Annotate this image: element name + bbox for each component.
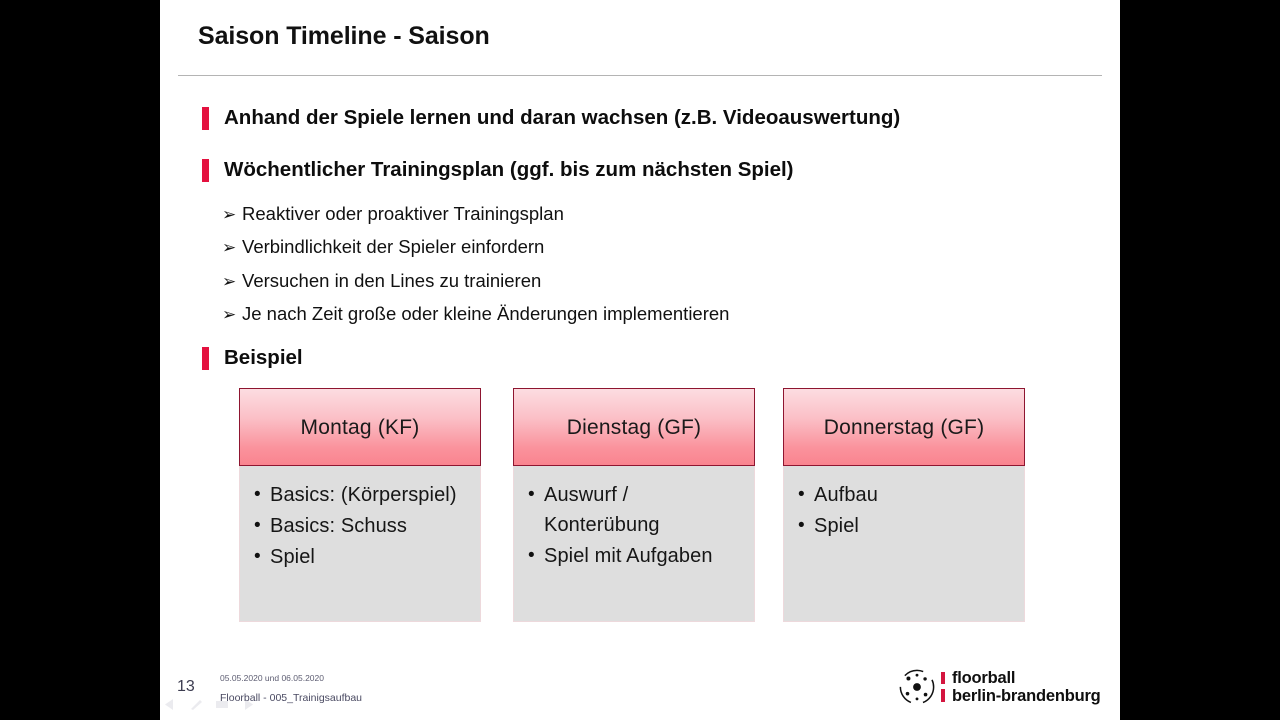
red-bar-bullet-icon (202, 347, 209, 370)
dot-bullet-icon: • (254, 480, 270, 510)
day-card-item: • Aufbau (798, 480, 1016, 510)
day-card-header: Donnerstag (GF) (783, 388, 1025, 466)
logo-red-bars-icon (941, 672, 945, 702)
dot-bullet-icon: • (528, 480, 544, 510)
day-card-item-label: Basics: (Körperspiel) (270, 480, 457, 510)
sub-bullet-item: ➢ Versuchen in den Lines zu trainieren (222, 270, 541, 292)
arrow-bullet-icon: ➢ (222, 306, 238, 323)
sub-bullet-item: ➢ Verbindlichkeit der Spieler einfordern (222, 236, 544, 258)
sub-bullet-item: ➢ Reaktiver oder proaktiver Trainingspla… (222, 203, 564, 225)
floorball-ball-icon (898, 668, 936, 706)
red-bar-bullet-icon (202, 107, 209, 130)
dot-bullet-icon: • (254, 542, 270, 572)
main-bullet-label: Wöchentlicher Trainingsplan (ggf. bis zu… (224, 157, 794, 182)
forward-arrow-icon (240, 698, 257, 711)
arrow-bullet-icon: ➢ (222, 273, 238, 290)
day-card-item: • Spiel (798, 511, 1016, 541)
dot-bullet-icon: • (798, 480, 814, 510)
slides-icon (214, 698, 231, 711)
day-card-item-label: Spiel (814, 511, 859, 541)
day-card: Montag (KF) • Basics: (Körperspiel) • Ba… (239, 388, 481, 622)
day-card-header: Dienstag (GF) (513, 388, 755, 466)
day-card-body: • Basics: (Körperspiel) • Basics: Schuss… (239, 466, 481, 622)
sub-bullet-item: ➢ Je nach Zeit große oder kleine Änderun… (222, 303, 729, 325)
day-card-item: • Spiel mit Aufgaben (528, 541, 746, 571)
day-card-item: • Basics: (Körperspiel) (254, 480, 472, 510)
back-arrow-icon (162, 698, 179, 711)
main-bullet-label: Anhand der Spiele lernen und daran wachs… (224, 105, 900, 130)
dot-bullet-icon: • (254, 511, 270, 541)
day-card-item-label: Spiel mit Aufgaben (544, 541, 713, 571)
day-card-title: Montag (KF) (301, 415, 420, 440)
day-card-item-label: Basics: Schuss (270, 511, 407, 541)
day-card-item-label: Spiel (270, 542, 315, 572)
presentation-slide: Saison Timeline - Saison Anhand der Spie… (160, 0, 1120, 720)
floorball-berlin-brandenburg-logo: floorball berlin-brandenburg (898, 668, 1101, 706)
day-card-body: • Auswurf / Konterübung • Spiel mit Aufg… (513, 466, 755, 622)
day-card-item-label: Auswurf / Konterübung (544, 480, 746, 540)
slide-page-number: 13 (177, 678, 195, 696)
letterbox-right (1120, 0, 1280, 720)
main-bullet-label: Beispiel (224, 345, 303, 370)
footer-date: 05.05.2020 und 06.05.2020 (220, 673, 324, 683)
day-card-item-label: Aufbau (814, 480, 878, 510)
day-card-item: • Spiel (254, 542, 472, 572)
day-card-title: Donnerstag (GF) (824, 415, 985, 440)
arrow-bullet-icon: ➢ (222, 239, 238, 256)
main-bullet-item: Anhand der Spiele lernen und daran wachs… (202, 105, 900, 130)
sub-bullet-label: Je nach Zeit große oder kleine Änderunge… (242, 303, 729, 325)
letterbox-left (0, 0, 160, 720)
sub-bullet-label: Versuchen in den Lines zu trainieren (242, 270, 541, 292)
main-bullet-item: Wöchentlicher Trainingsplan (ggf. bis zu… (202, 157, 794, 182)
pencil-icon (188, 698, 205, 711)
dot-bullet-icon: • (528, 541, 544, 571)
sub-bullet-label: Reaktiver oder proaktiver Trainingsplan (242, 203, 564, 225)
day-card-header: Montag (KF) (239, 388, 481, 466)
day-card: Dienstag (GF) • Auswurf / Konterübung • … (513, 388, 755, 622)
day-card-title: Dienstag (GF) (567, 415, 701, 440)
day-card-item: • Auswurf / Konterübung (528, 480, 746, 540)
day-card-item: • Basics: Schuss (254, 511, 472, 541)
day-card-body: • Aufbau • Spiel (783, 466, 1025, 622)
logo-line-2: berlin-brandenburg (952, 687, 1101, 705)
page-title: Saison Timeline - Saison (198, 22, 490, 51)
dot-bullet-icon: • (798, 511, 814, 541)
logo-wordmark: floorball berlin-brandenburg (952, 669, 1101, 705)
day-card: Donnerstag (GF) • Aufbau • Spiel (783, 388, 1025, 622)
title-divider (178, 75, 1102, 76)
red-bar-bullet-icon (202, 159, 209, 182)
main-bullet-item: Beispiel (202, 345, 303, 370)
screenshot-viewport: Saison Timeline - Saison Anhand der Spie… (0, 0, 1280, 720)
arrow-bullet-icon: ➢ (222, 206, 238, 223)
sub-bullet-label: Verbindlichkeit der Spieler einfordern (242, 236, 544, 258)
logo-line-1: floorball (952, 669, 1101, 687)
watermark-icon-strip (162, 698, 257, 711)
